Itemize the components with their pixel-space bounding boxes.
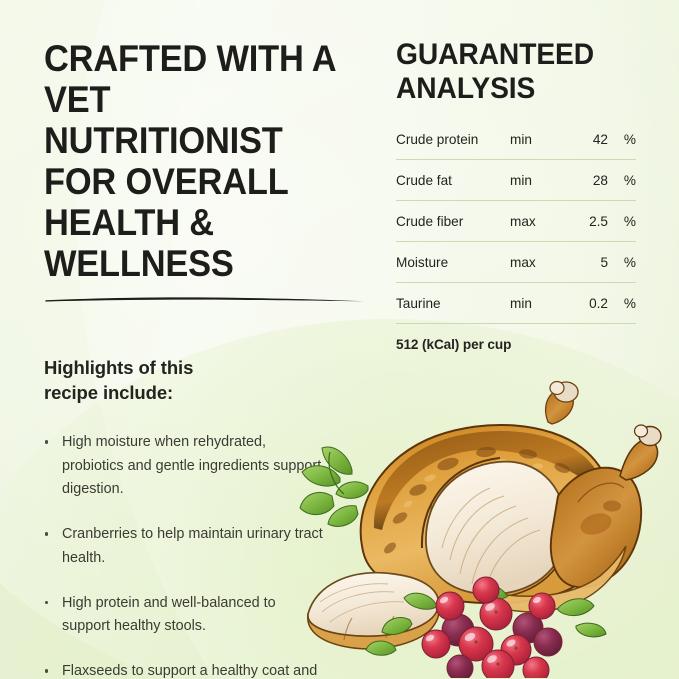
nutrient-value: 2.5 — [566, 200, 608, 241]
list-item-text: High moisture when rehydrated, probiotic… — [62, 434, 321, 497]
nutrient-unit: % — [608, 200, 636, 241]
list-item: High protein and well-balanced to suppor… — [44, 592, 324, 639]
guaranteed-analysis-table: Crude protein min 42 % Crude fat min 28 … — [396, 130, 636, 324]
nutrient-limit: max — [510, 241, 566, 282]
list-item-text: Flaxseeds to support a healthy coat and … — [62, 663, 317, 679]
table-row: Crude fat min 28 % — [396, 159, 636, 200]
nutrient-unit: % — [608, 241, 636, 282]
table-row: Taurine min 0.2 % — [396, 282, 636, 323]
bullet-dot-icon — [45, 669, 48, 672]
page-title: CRAFTED WITH A VET NUTRITIONIST FOR OVER… — [44, 38, 351, 284]
nutrient-name: Taurine — [396, 282, 510, 323]
turkey-drumstick-rear — [546, 382, 578, 425]
bullet-dot-icon — [45, 601, 48, 604]
highlights-title-line-1: Highlights of this — [44, 357, 193, 378]
nutrient-name: Crude fat — [396, 159, 510, 200]
nutrient-unit: % — [608, 282, 636, 323]
turkey-carved-slices — [308, 573, 439, 649]
ga-title-line-1: GUARANTEED — [396, 38, 594, 71]
headline-line-4: HEALTH & WELLNESS — [44, 202, 234, 284]
nutrient-value: 42 — [566, 130, 608, 160]
roast-turkey-illustration — [290, 378, 679, 678]
bullet-dot-icon — [45, 532, 48, 535]
headline-line-3: FOR OVERALL — [44, 161, 289, 202]
table-row: Moisture max 5 % — [396, 241, 636, 282]
table-row: Crude fiber max 2.5 % — [396, 200, 636, 241]
bullet-dot-icon — [45, 440, 48, 443]
headline-line-1: CRAFTED WITH A — [44, 38, 336, 79]
nutrient-unit: % — [608, 130, 636, 160]
nutrient-name: Crude protein — [396, 130, 510, 160]
highlights-title-line-2: recipe include: — [44, 382, 173, 403]
nutrient-name: Crude fiber — [396, 200, 510, 241]
nutrient-value: 28 — [566, 159, 608, 200]
right-column: GUARANTEED ANALYSIS Crude protein min 42… — [396, 38, 636, 352]
headline-underline — [44, 296, 366, 304]
product-infographic: CRAFTED WITH A VET NUTRITIONIST FOR OVER… — [0, 0, 679, 679]
nutrient-limit: max — [510, 200, 566, 241]
list-item-text: High protein and well-balanced to suppor… — [62, 595, 276, 634]
headline-line-2: VET NUTRITIONIST — [44, 79, 283, 161]
nutrient-limit: min — [510, 282, 566, 323]
ga-title-line-2: ANALYSIS — [396, 72, 535, 105]
nutrient-name: Moisture — [396, 241, 510, 282]
table-row: Crude protein min 42 % — [396, 130, 636, 160]
guaranteed-analysis-title: GUARANTEED ANALYSIS — [396, 38, 622, 106]
nutrient-value: 5 — [566, 241, 608, 282]
nutrient-unit: % — [608, 159, 636, 200]
list-item: Cranberries to help maintain urinary tra… — [44, 523, 324, 570]
nutrient-limit: min — [510, 130, 566, 160]
list-item-text: Cranberries to help maintain urinary tra… — [62, 526, 323, 565]
list-item: Flaxseeds to support a healthy coat and … — [44, 660, 324, 679]
nutrient-limit: min — [510, 159, 566, 200]
nutrient-value: 0.2 — [566, 282, 608, 323]
herb-leaves-left — [300, 447, 368, 526]
calorie-content: 512 (kCal) per cup — [396, 324, 636, 352]
list-item: High moisture when rehydrated, probiotic… — [44, 431, 324, 501]
